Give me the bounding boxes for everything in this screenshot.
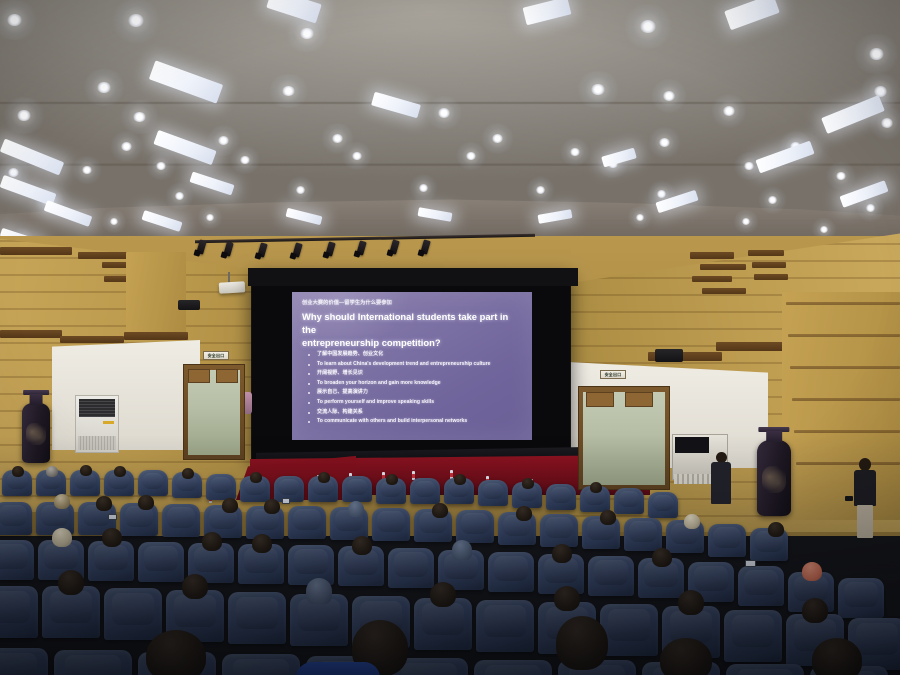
slide-bullet: 展示自己、提高演讲力	[304, 388, 526, 398]
vase-decoration-right	[762, 466, 785, 493]
raised-phone-icon	[282, 498, 290, 504]
audience-member-walking	[710, 452, 732, 504]
decorative-vase-right	[757, 440, 791, 516]
slide-bullet: To broaden your horizon and gain more kn…	[304, 379, 526, 389]
auditorium-photo: 创业大赛的价值—留学生为什么要参加 Why should Internation…	[0, 0, 900, 675]
foreground-audience-shoulder	[296, 662, 380, 675]
raised-phone-icon	[108, 514, 117, 520]
slide-bullet: To learn about China's development trend…	[304, 360, 526, 370]
exit-sign-right: 安全出口	[600, 370, 626, 379]
control-desk-rack	[674, 474, 712, 484]
slide-title-line-1: Why should International students take p…	[302, 310, 524, 336]
ac-grill	[79, 399, 115, 417]
exit-door-right[interactable]	[578, 386, 670, 490]
slide-bullet-list: 了解中国发展趋势、创业文化 To learn about China's dev…	[304, 350, 526, 427]
slide-bullet: To perform yourself and improve speaking…	[304, 398, 526, 408]
decorative-vase-left	[22, 403, 50, 463]
slide-bullet: 了解中国发展趋势、创业文化	[304, 350, 526, 360]
slide-bullet: 交流人际、构建关系	[304, 408, 526, 418]
presentation-slide: 创业大赛的价值—留学生为什么要参加 Why should Internation…	[292, 292, 532, 440]
exit-sign-right-label: 安全出口	[605, 372, 622, 378]
vase-neck-left	[30, 394, 43, 405]
wall-mounted-speaker-left	[178, 300, 200, 310]
slide-bullet: 开阔视野、增长见识	[304, 369, 526, 379]
ac-base-vent	[78, 436, 116, 450]
slide-bullet: To communicate with others and build int…	[304, 417, 526, 427]
slide-title-line-2: entrepreneurship competition?	[302, 336, 524, 349]
ac-badge	[103, 421, 114, 424]
screen-valance	[248, 268, 578, 286]
ceiling-projector	[219, 281, 246, 293]
staff-phone-icon	[845, 496, 853, 501]
wall-mounted-speaker-right	[655, 349, 683, 362]
exit-sign-left-label: 安全出口	[208, 353, 225, 359]
floor-standing-ac	[75, 395, 119, 453]
raised-phone-icon	[745, 560, 756, 567]
standing-staff-member	[852, 458, 878, 538]
control-desk-monitor	[675, 437, 709, 453]
slide-chinese-heading: 创业大赛的价值—留学生为什么要参加	[302, 299, 524, 306]
vase-neck-right	[766, 431, 782, 442]
vase-decoration-left	[26, 423, 45, 445]
exit-sign-left: 安全出口	[203, 351, 229, 360]
slide-title: Why should International students take p…	[302, 310, 524, 349]
exit-door-left[interactable]	[183, 364, 245, 460]
